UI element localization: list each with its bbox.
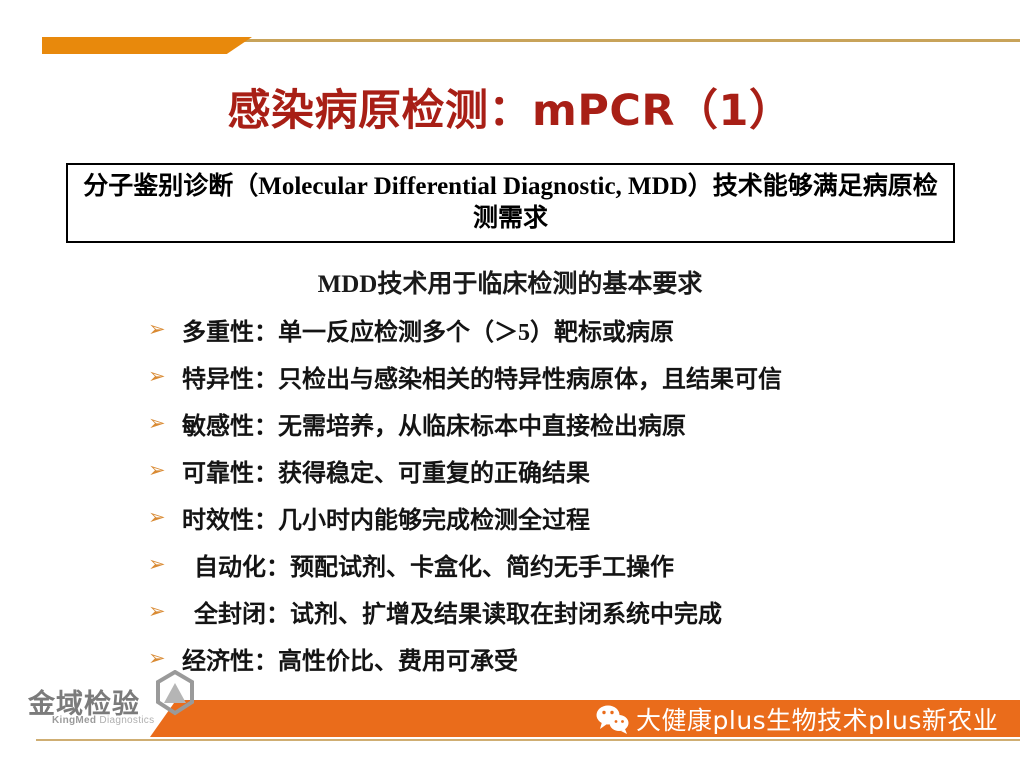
list-item: ➢ 可靠性：获得稳定、可重复的正确结果 (148, 447, 988, 494)
arrow-bullet-icon: ➢ (148, 648, 182, 669)
arrow-bullet-icon: ➢ (148, 413, 182, 434)
statement-box: 分子鉴别诊断（Molecular Differential Diagnostic… (66, 163, 955, 243)
arrow-bullet-icon: ➢ (148, 366, 182, 387)
list-item-label: 特异性：只检出与感染相关的特异性病原体，且结果可信 (182, 359, 782, 394)
list-item-label: 全封闭：试剂、扩增及结果读取在封闭系统中完成 (182, 594, 722, 629)
slide-canvas: 感染病原检测：mPCR（1） 分子鉴别诊断（Molecular Differen… (0, 0, 1020, 765)
list-item: ➢ 特异性：只检出与感染相关的特异性病原体，且结果可信 (148, 353, 988, 400)
list-item-label: 时效性：几小时内能够完成检测全过程 (182, 500, 590, 535)
list-item: ➢ 经济性：高性价比、费用可承受 (148, 635, 988, 682)
hexagon-logo-icon (152, 670, 198, 716)
arrow-bullet-icon: ➢ (148, 460, 182, 481)
arrow-bullet-icon: ➢ (148, 319, 182, 340)
brand-logo: 金域检验 KingMed Diagnostics (28, 676, 198, 734)
wechat-icon (596, 704, 630, 734)
list-item: ➢ 时效性：几小时内能够完成检测全过程 (148, 494, 988, 541)
section-subheading: MDD技术用于临床检测的基本要求 (0, 264, 1020, 300)
list-item: ➢ 自动化：预配试剂、卡盒化、简约无手工操作 (148, 541, 988, 588)
list-item: ➢ 多重性：单一反应检测多个（＞5）靶标或病原 (148, 306, 988, 353)
statement-text: 分子鉴别诊断（Molecular Differential Diagnostic… (68, 171, 953, 235)
list-item-label: 经济性：高性价比、费用可承受 (182, 641, 518, 676)
watermark-text: 大健康plus生物技术plus新农业 (636, 701, 998, 737)
brand-subtitle-light: Diagnostics (99, 715, 154, 726)
header-orange-bar (42, 37, 252, 54)
list-item-label: 自动化：预配试剂、卡盒化、简约无手工操作 (182, 547, 674, 582)
requirements-list: ➢ 多重性：单一反应检测多个（＞5）靶标或病原 ➢ 特异性：只检出与感染相关的特… (148, 306, 988, 682)
list-item-label: 多重性：单一反应检测多个（＞5）靶标或病原 (182, 312, 674, 347)
watermark: 大健康plus生物技术plus新农业 (596, 700, 998, 737)
arrow-bullet-icon: ➢ (148, 507, 182, 528)
brand-subtitle-bold: KingMed (52, 715, 96, 726)
list-item: ➢ 敏感性：无需培养，从临床标本中直接检出病原 (148, 400, 988, 447)
list-item-label: 可靠性：获得稳定、可重复的正确结果 (182, 453, 590, 488)
list-item: ➢ 全封闭：试剂、扩增及结果读取在封闭系统中完成 (148, 588, 988, 635)
footer-gold-rule (36, 739, 1020, 741)
page-title: 感染病原检测：mPCR（1） (0, 76, 1020, 138)
arrow-bullet-icon: ➢ (148, 601, 182, 622)
list-item-label: 敏感性：无需培养，从临床标本中直接检出病原 (182, 406, 686, 441)
arrow-bullet-icon: ➢ (148, 554, 182, 575)
brand-subtitle: KingMed Diagnostics (52, 715, 154, 726)
